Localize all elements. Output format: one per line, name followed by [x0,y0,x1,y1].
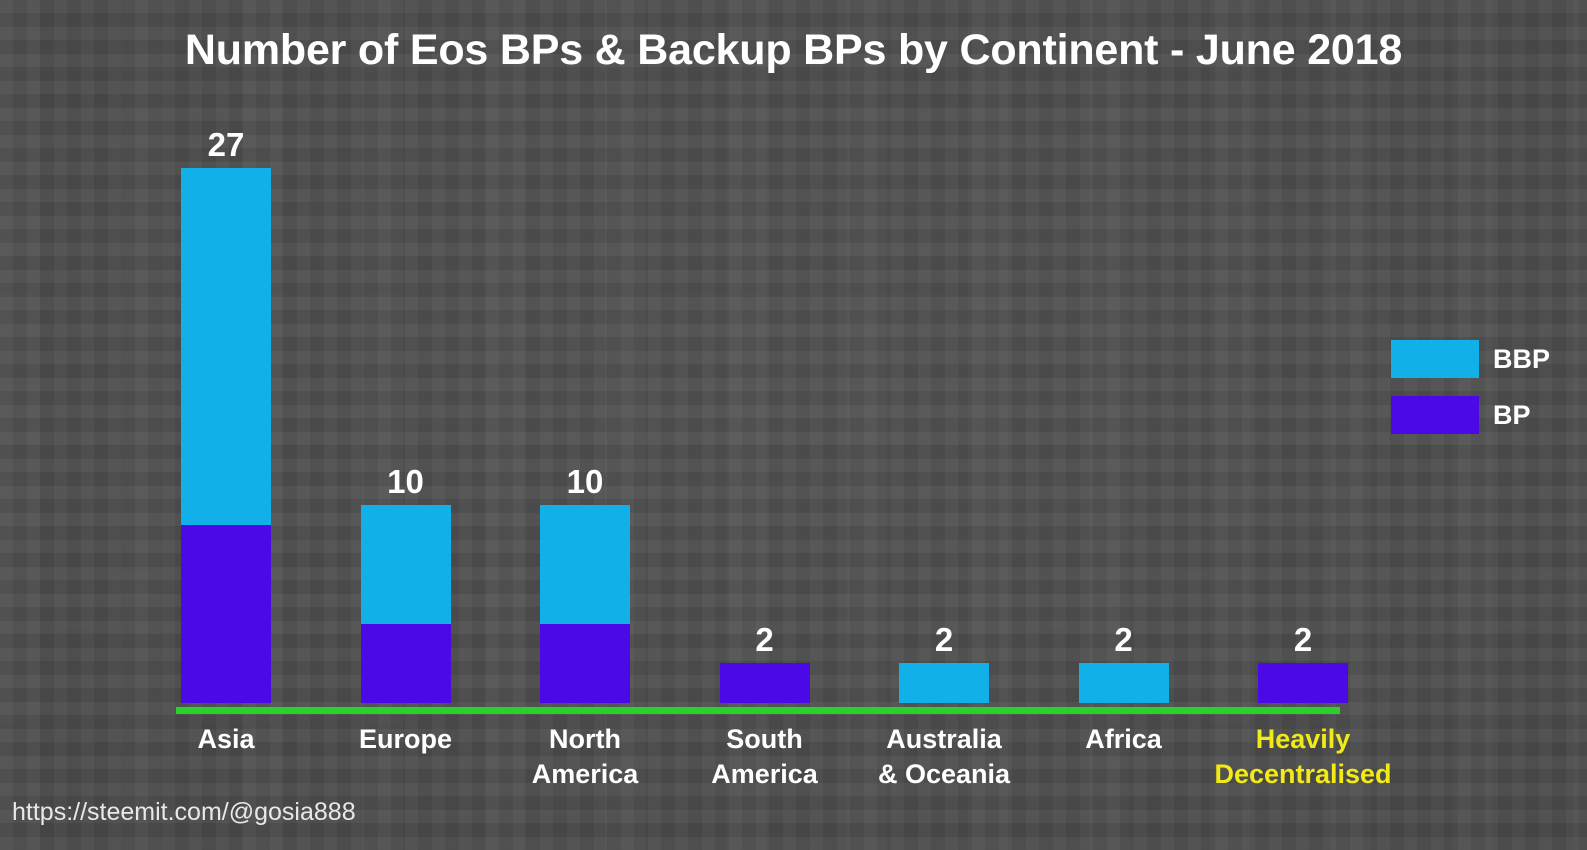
chart-plot-area: 27Asia10Europe10North America2South Amer… [0,0,1587,850]
bar-segment-bbp [1079,663,1169,703]
bar-segment-bp [181,525,271,703]
category-label: Europe [306,722,506,757]
bar-segment-bbp [361,505,451,624]
bar-segment-bp [540,624,630,703]
bar-segment-bp [361,624,451,703]
category-label: North America [485,722,685,791]
bar-group[interactable]: 2 [1079,663,1169,703]
bbp-swatch [1391,340,1479,378]
legend-item[interactable]: BP [1391,396,1576,434]
bar-value-label: 10 [387,463,424,501]
bp-swatch [1391,396,1479,434]
bar-value-label: 27 [208,126,245,164]
bar-segment-bbp [181,168,271,524]
bar-group[interactable]: 27 [181,168,271,703]
bar-value-label: 2 [1294,621,1312,659]
chart-legend: BBPBP [1391,340,1576,452]
legend-item[interactable]: BBP [1391,340,1576,378]
category-label: South America [665,722,865,791]
bar-segment-bbp [540,505,630,624]
bar-value-label: 2 [935,621,953,659]
bar-group[interactable]: 10 [361,505,451,703]
bar-segment-bbp [899,663,989,703]
bar-value-label: 10 [567,463,604,501]
bar-group[interactable]: 2 [899,663,989,703]
category-label: Australia & Oceania [844,722,1044,791]
legend-item-label: BBP [1493,344,1550,375]
chart-slide: Number of Eos BPs & Backup BPs by Contin… [0,0,1587,850]
category-label: Asia [126,722,326,757]
legend-item-label: BP [1493,400,1531,431]
bar-value-label: 2 [755,621,773,659]
bar-group[interactable]: 2 [1258,663,1348,703]
bar-group[interactable]: 10 [540,505,630,703]
category-label: Heavily Decentralised [1203,722,1403,791]
bar-segment-bp [720,663,810,703]
category-label: Africa [1024,722,1224,757]
bar-group[interactable]: 2 [720,663,810,703]
source-url-text: https://steemit.com/@gosia888 [12,798,356,827]
bar-value-label: 2 [1114,621,1132,659]
baseline-axis [176,707,1340,714]
bar-segment-bp [1258,663,1348,703]
